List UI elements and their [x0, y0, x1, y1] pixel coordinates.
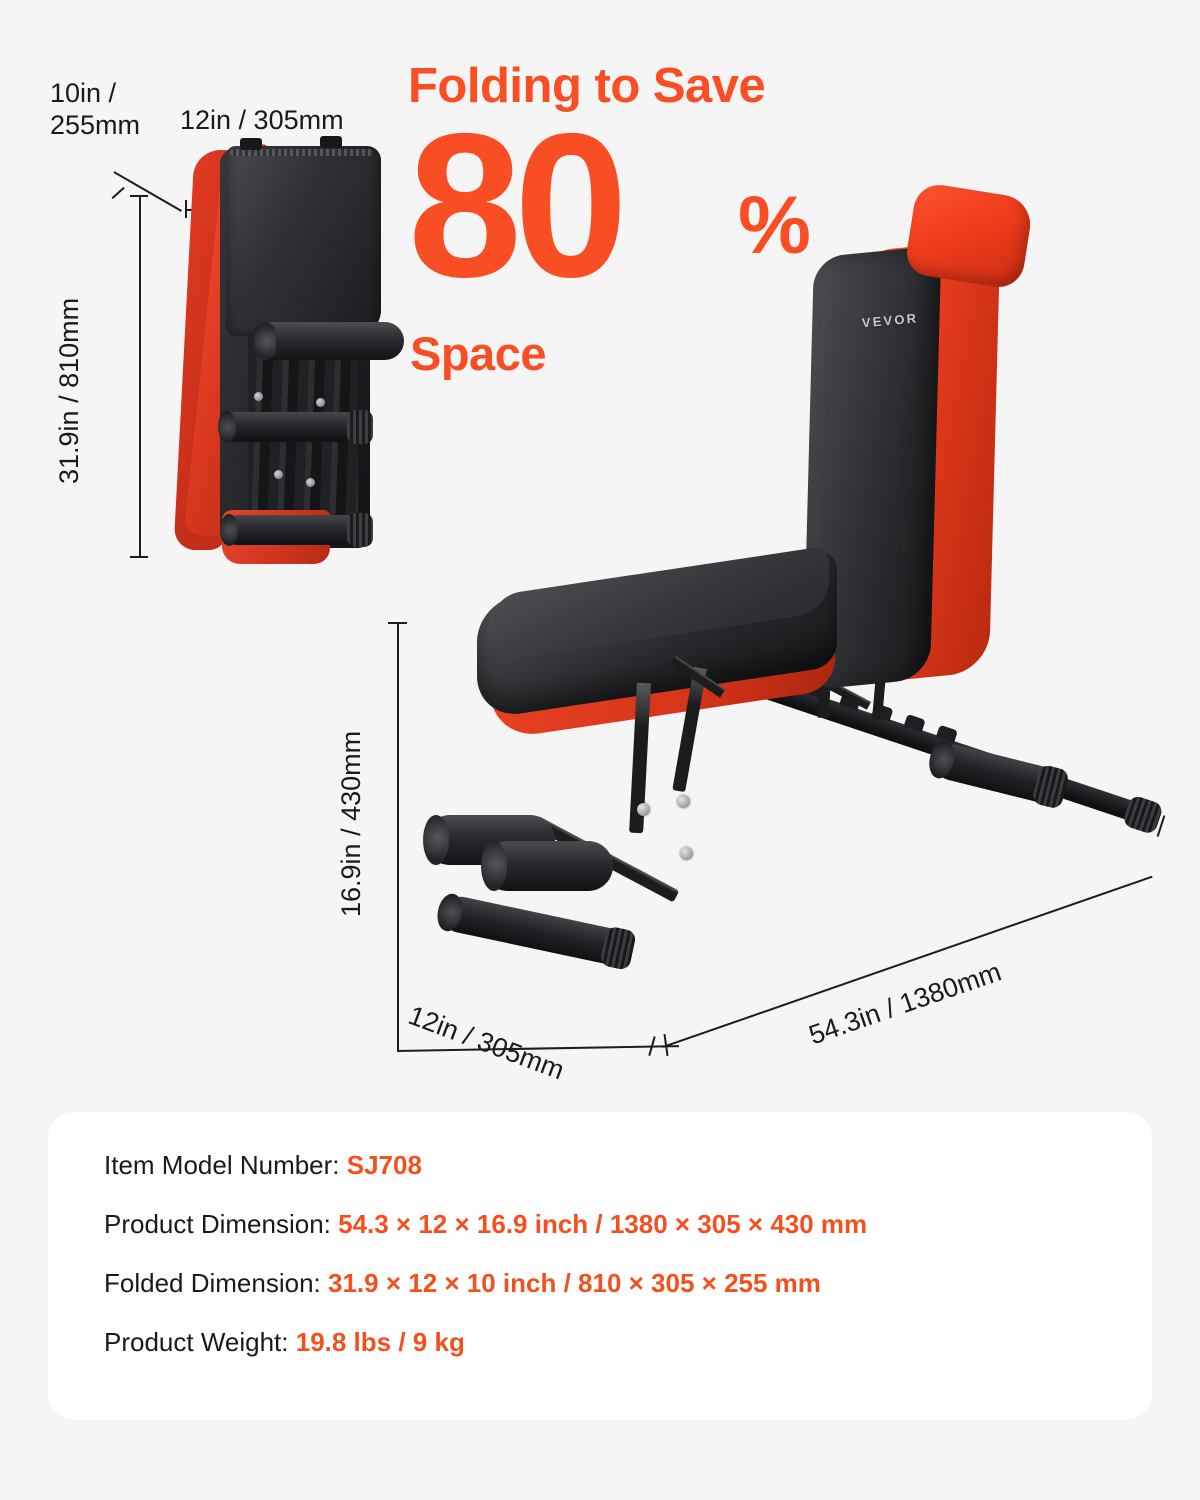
spec-label-weight: Product Weight:: [104, 1327, 296, 1357]
spec-value-weight: 19.8 lbs / 9 kg: [296, 1327, 465, 1357]
folded-backrest-pad: [226, 146, 381, 336]
headrest-pad: [904, 181, 1035, 290]
spec-row-folded-dimension: Folded Dimension: 31.9 × 12 × 10 inch / …: [104, 1270, 867, 1296]
tick-height-top: [388, 622, 407, 624]
spec-label-product-dimension: Product Dimension:: [104, 1209, 338, 1239]
rear-foot-bar: [931, 741, 1066, 807]
folded-tube-upper: [220, 412, 370, 442]
specification-list: Item Model Number: SJ708 Product Dimensi…: [104, 1152, 867, 1388]
tick-folded-length-top: [130, 195, 148, 197]
pivot-bolt-1: [637, 803, 650, 816]
bench-illustration: VEVOR: [415, 175, 1175, 1005]
tick-folded-length-bottom: [130, 556, 148, 558]
spec-value-product-dimension: 54.3 × 12 × 16.9 inch / 1380 × 305 × 430…: [338, 1209, 867, 1239]
dimension-folded-length: 31.9in / 810mm: [54, 261, 86, 521]
folded-tube-lower: [222, 515, 370, 545]
folded-foam-roller: [254, 322, 404, 360]
leader-line-folded-length: [139, 195, 141, 558]
leg-roller-lower: [483, 841, 613, 891]
folded-clip-left: [240, 138, 262, 150]
folded-bolt-3: [274, 470, 283, 479]
spec-value-model: SJ708: [347, 1150, 422, 1180]
dimension-folded-depth: 10in /255mm: [50, 78, 140, 142]
folded-bench-illustration: [178, 140, 398, 570]
pivot-bolt-3: [680, 847, 693, 860]
folded-clip-right: [320, 136, 342, 148]
spec-label-model: Item Model Number:: [104, 1150, 347, 1180]
spec-row-product-dimension: Product Dimension: 54.3 × 12 × 16.9 inch…: [104, 1211, 867, 1237]
leader-line-height: [397, 622, 399, 1050]
dimension-folded-width: 12in / 305mm: [180, 105, 344, 137]
spec-label-folded-dimension: Folded Dimension:: [104, 1268, 328, 1298]
front-stabilizer-bar: [439, 893, 632, 968]
pivot-bolt-2: [677, 795, 690, 808]
dimension-height: 16.9in / 430mm: [336, 694, 368, 954]
infographic-stage: Folding to Save 80 % Space 10in /255mm 1…: [0, 0, 1200, 1500]
spec-row-weight: Product Weight: 19.8 lbs / 9 kg: [104, 1329, 867, 1355]
folded-bolt-1: [254, 392, 263, 401]
spec-row-model: Item Model Number: SJ708: [104, 1152, 867, 1178]
tick-folded-depth: [112, 187, 125, 199]
folded-bolt-2: [316, 398, 325, 407]
leader-line-folded-depth: [114, 171, 182, 211]
dimension-width: 12in / 305mm: [404, 1000, 568, 1087]
specification-card: Item Model Number: SJ708 Product Dimensi…: [48, 1112, 1152, 1420]
folded-bolt-4: [306, 478, 315, 487]
spec-value-folded-dimension: 31.9 × 12 × 10 inch / 810 × 305 × 255 mm: [328, 1268, 821, 1298]
